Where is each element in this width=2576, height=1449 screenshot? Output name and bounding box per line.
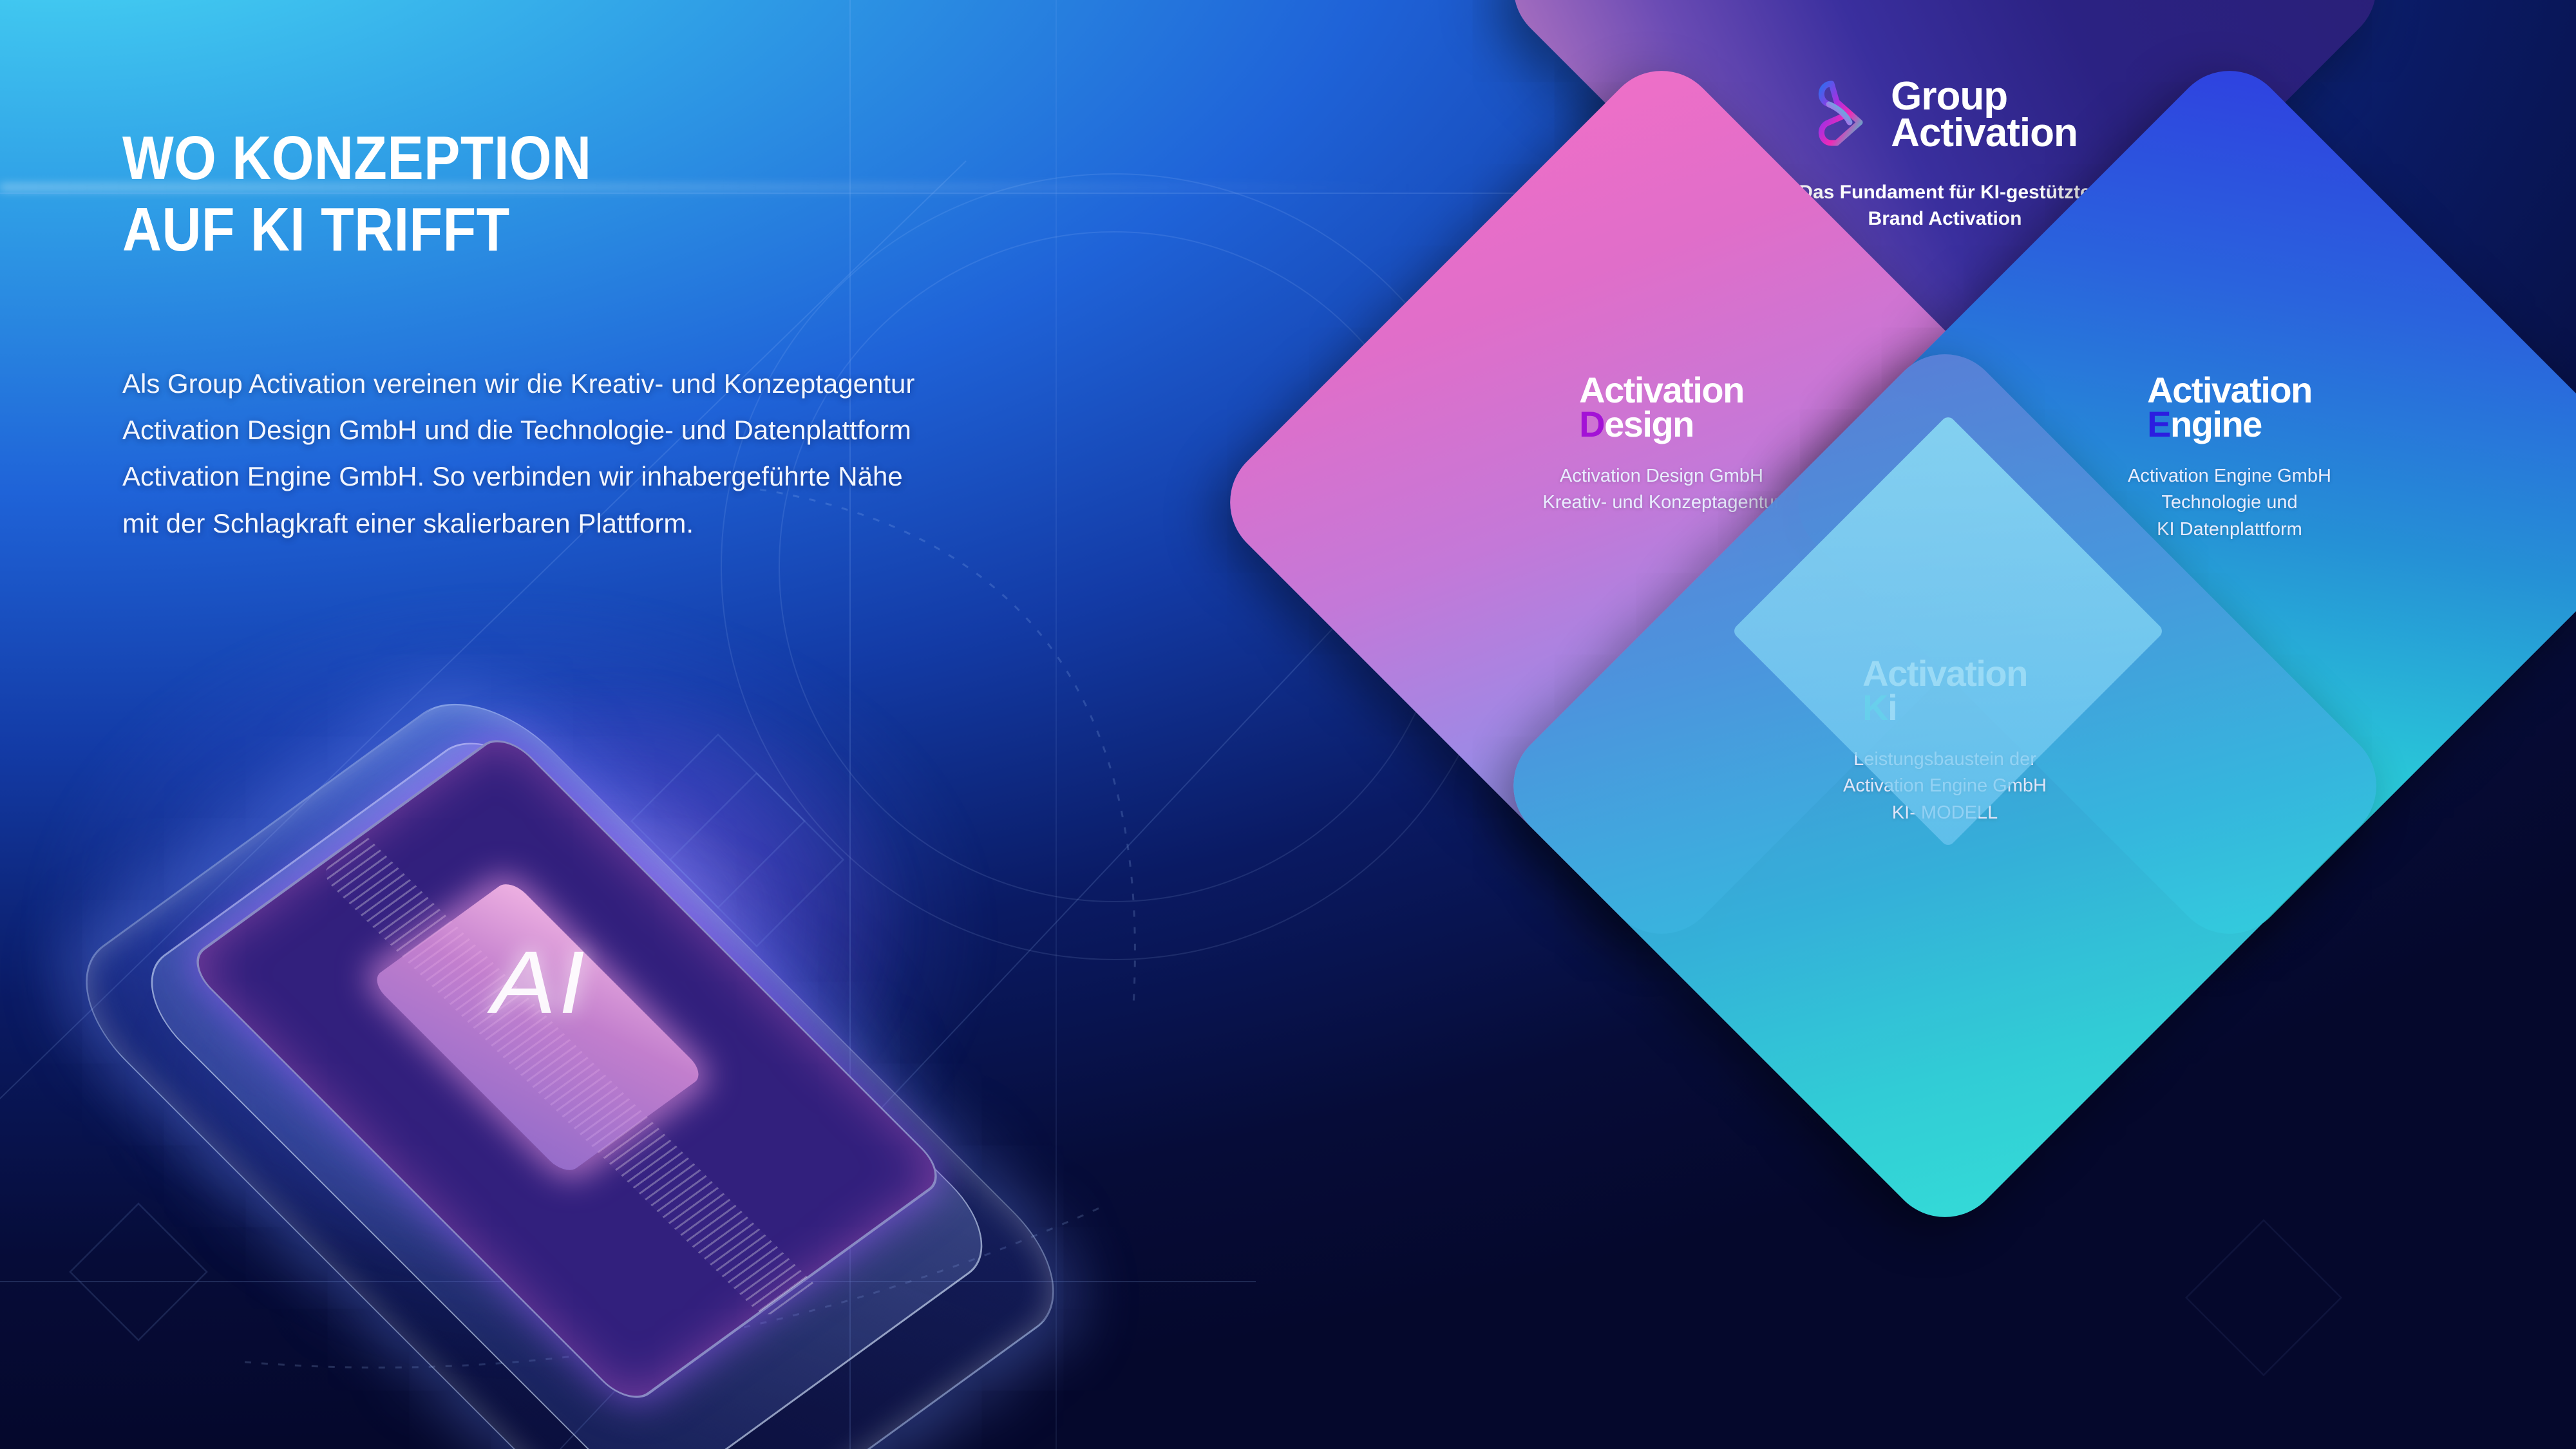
intro-line-1: Als Group Activation vereinen wir die Kr… — [122, 361, 1024, 407]
group-activation-word-1: Group — [1891, 78, 2078, 115]
engine-logo-top: Activation — [2147, 374, 2312, 408]
ki-logo-bottom: Ki — [1862, 691, 1897, 725]
design-logo-accent-letter: D — [1579, 404, 1604, 444]
engine-caption-line-3: KI Datenplattform — [2128, 516, 2331, 543]
design-caption-line-1: Activation Design GmbH — [1542, 463, 1780, 489]
design-logo-bottom: Design — [1579, 408, 1694, 442]
chip-die — [184, 730, 951, 1409]
headline-line-2: AUF KI TRIFFT — [122, 194, 916, 265]
chip-core — [370, 878, 706, 1177]
activation-design-caption: Activation Design GmbH Kreativ- und Konz… — [1542, 463, 1780, 516]
ki-caption-line-3: KI- MODELL — [1843, 800, 2047, 826]
slide-canvas: AI WO KONZEPTION AUF KI TRIFFT Als Group… — [0, 0, 2576, 1449]
ai-chip-illustration: AI — [58, 541, 1236, 1449]
engine-logo-bottom-rest: ngine — [2170, 404, 2262, 444]
intro-line-3: Activation Engine GmbH. So verbinden wir… — [122, 453, 1024, 500]
activation-design-logo: Activation Design — [1579, 374, 1744, 441]
engine-caption-line-2: Technologie und — [2128, 489, 2331, 516]
engine-caption-line-1: Activation Engine GmbH — [2128, 463, 2331, 489]
ki-caption-line-1: Leistungsbaustein der — [1843, 746, 2047, 773]
group-activation-wordmark: Group Activation — [1891, 78, 2078, 151]
background-glow-left — [0, 451, 1185, 1417]
ki-caption-line-2: Activation Engine GmbH — [1843, 773, 2047, 799]
brand-architecture-diagram: Group Activation Das Fundament für KI-ge… — [1340, 0, 2550, 1449]
chip-outer-plate — [49, 674, 1091, 1449]
background-glow-chip — [213, 599, 1018, 1243]
chip-halo — [32, 702, 1159, 1449]
activation-ki-logo: Activation Ki — [1862, 657, 2027, 724]
ki-logo-bottom-rest: i — [1888, 687, 1897, 728]
chip-inner-plate — [123, 720, 1010, 1449]
headline-line-1: WO KONZEPTION — [122, 124, 591, 193]
group-caption-line-1: Das Fundament für KI-gestützte — [1799, 179, 2090, 205]
activation-engine-caption: Activation Engine GmbH Technologie und K… — [2128, 463, 2331, 543]
chip-pins — [319, 838, 814, 1320]
activation-engine-logo: Activation Engine — [2147, 374, 2312, 441]
group-activation-logo: Group Activation — [1812, 76, 2078, 153]
intro-paragraph: Als Group Activation vereinen wir die Kr… — [122, 361, 1024, 547]
engine-logo-accent-letter: E — [2147, 404, 2170, 444]
activation-ki-caption: Leistungsbaustein der Activation Engine … — [1843, 746, 2047, 826]
intro-line-4: mit der Schlagkraft einer skalierbaren P… — [122, 500, 1024, 547]
design-logo-bottom-rest: esign — [1604, 404, 1694, 444]
design-caption-line-2: Kreativ- und Konzeptagentur — [1542, 489, 1780, 516]
chip-ai-label: AI — [431, 917, 650, 1047]
engine-logo-bottom: Engine — [2147, 408, 2262, 442]
ki-logo-accent-letter: K — [1862, 687, 1888, 728]
page-title: WO KONZEPTION AUF KI TRIFFT — [122, 122, 916, 266]
design-logo-top: Activation — [1579, 374, 1744, 408]
intro-line-2: Activation Design GmbH und die Technolog… — [122, 407, 1024, 453]
group-activation-mark-icon — [1812, 76, 1874, 153]
ki-logo-top: Activation — [1862, 657, 2027, 691]
group-activation-caption: Das Fundament für KI-gestützte Brand Act… — [1799, 179, 2090, 232]
group-activation-word-2: Activation — [1891, 115, 2078, 151]
